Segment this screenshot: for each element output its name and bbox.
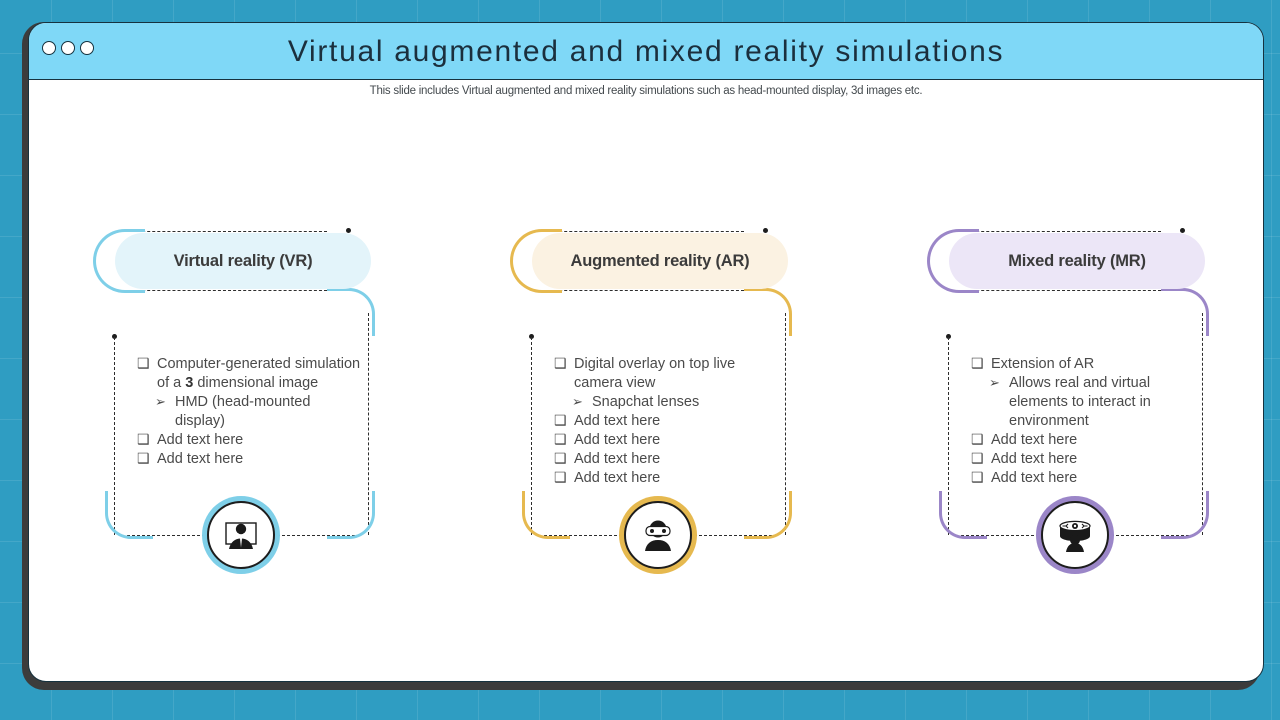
dashed-line-top [961,231,1161,232]
bullet-text: Add text here [157,451,243,467]
bullet-list-mixed-reality: ❑Extension of AR➢Allows real and virtual… [969,355,1195,488]
bullet-text: Add text here [574,451,660,467]
accent-arc-top-right [1161,288,1209,336]
bullet-text: Add text here [574,470,660,486]
bullet-marker: ❑ [971,449,984,468]
bullet-item: ❑Computer-generated simulation of a 3 di… [135,355,361,393]
bullet-item: ❑Add text here [969,450,1195,469]
bullet-marker: ❑ [137,354,150,373]
dashed-line-under-pill [127,290,327,291]
bullet-item: ❑Add text here [552,431,778,450]
dashed-line-top [544,231,744,232]
bullet-marker: ❑ [554,411,567,430]
column-title-augmented-reality[interactable]: Augmented reality (AR) [532,233,788,289]
bullet-item: ❑Add text here [552,469,778,488]
bullet-text: Add text here [574,432,660,448]
column-title-mixed-reality[interactable]: Mixed reality (MR) [949,233,1205,289]
bullet-text: Digital overlay on top live camera view [574,356,735,391]
bullet-text: Add text here [574,413,660,429]
bullet-item: ❑Add text here [969,469,1195,488]
columns-container: Virtual reality (VR)❑Computer-generated … [29,173,1263,633]
bullet-item: ❑Add text here [135,450,361,469]
accent-arc-bottom-left [939,491,987,539]
accent-arc-top-right [744,288,792,336]
column-title-virtual-reality[interactable]: Virtual reality (VR) [115,233,371,289]
bullet-list-augmented-reality: ❑Digital overlay on top live camera view… [552,355,778,488]
slide-header-bar: Virtual augmented and mixed reality simu… [29,23,1263,80]
bullet-marker: ❑ [971,354,984,373]
column-mixed-reality: Mixed reality (MR)❑Extension of AR➢Allow… [921,173,1264,633]
bullet-marker: ❑ [554,354,567,373]
column-title-pill-wrap[interactable]: Augmented reality (AR) [532,233,788,289]
bullet-text: Snapchat lenses [592,394,699,410]
bullet-text: Add text here [991,451,1077,467]
bullet-marker: ❑ [554,468,567,487]
bullet-item: ❑Add text here [552,450,778,469]
bullet-item: ➢Snapchat lenses [552,393,778,412]
bullet-marker: ❑ [971,468,984,487]
bullet-text: Add text here [991,432,1077,448]
bullet-marker: ➢ [989,373,1000,392]
footer-note: This slide is 100% editable. Adapt it to… [29,653,1263,681]
bullet-marker: ❑ [971,430,984,449]
bullet-marker: ❑ [137,449,150,468]
person-in-frame-icon[interactable] [207,501,275,569]
dashed-line-top [127,231,327,232]
bullet-text: HMD (head-mounted display) [175,394,310,429]
person-with-goggles-icon[interactable] [624,501,692,569]
bullet-item: ❑Add text here [552,412,778,431]
bullet-list-virtual-reality: ❑Computer-generated simulation of a 3 di… [135,355,361,469]
bullet-item: ➢Allows real and virtual elements to int… [969,374,1195,431]
column-augmented-reality: Augmented reality (AR)❑Digital overlay o… [504,173,886,633]
page-title: Virtual augmented and mixed reality simu… [29,23,1263,80]
column-title-pill-wrap[interactable]: Virtual reality (VR) [115,233,371,289]
bullet-text: Add text here [157,432,243,448]
dashed-line-under-pill [961,290,1161,291]
column-virtual-reality: Virtual reality (VR)❑Computer-generated … [87,173,469,633]
slide-subtitle: This slide includes Virtual augmented an… [29,85,1263,97]
column-title-pill-wrap[interactable]: Mixed reality (MR) [949,233,1205,289]
footer-text: This slide is 100% editable. Adapt it to… [410,660,881,674]
bullet-text: Allows real and virtual elements to inte… [1009,375,1151,429]
bullet-marker: ❑ [137,430,150,449]
bullet-marker: ➢ [155,392,166,411]
slide-card: Virtual augmented and mixed reality simu… [28,22,1264,682]
bullet-item: ❑Extension of AR [969,355,1195,374]
bullet-item: ❑Add text here [135,431,361,450]
dashed-line-under-pill [544,290,744,291]
bullet-text: Extension of AR [991,356,1094,372]
accent-arc-bottom-left [522,491,570,539]
accent-arc-bottom-left [105,491,153,539]
bullet-item: ❑Add text here [969,431,1195,450]
bullet-item: ❑Digital overlay on top live camera view [552,355,778,393]
bullet-marker: ➢ [572,392,583,411]
bullet-text: Computer-generated simulation of a 3 dim… [157,356,360,391]
accent-arc-top-right [327,288,375,336]
bullet-item: ➢HMD (head-mounted display) [135,393,361,431]
person-panoramic-view-icon[interactable] [1041,501,1109,569]
bullet-marker: ❑ [554,430,567,449]
bullet-marker: ❑ [554,449,567,468]
bullet-text: Add text here [991,470,1077,486]
